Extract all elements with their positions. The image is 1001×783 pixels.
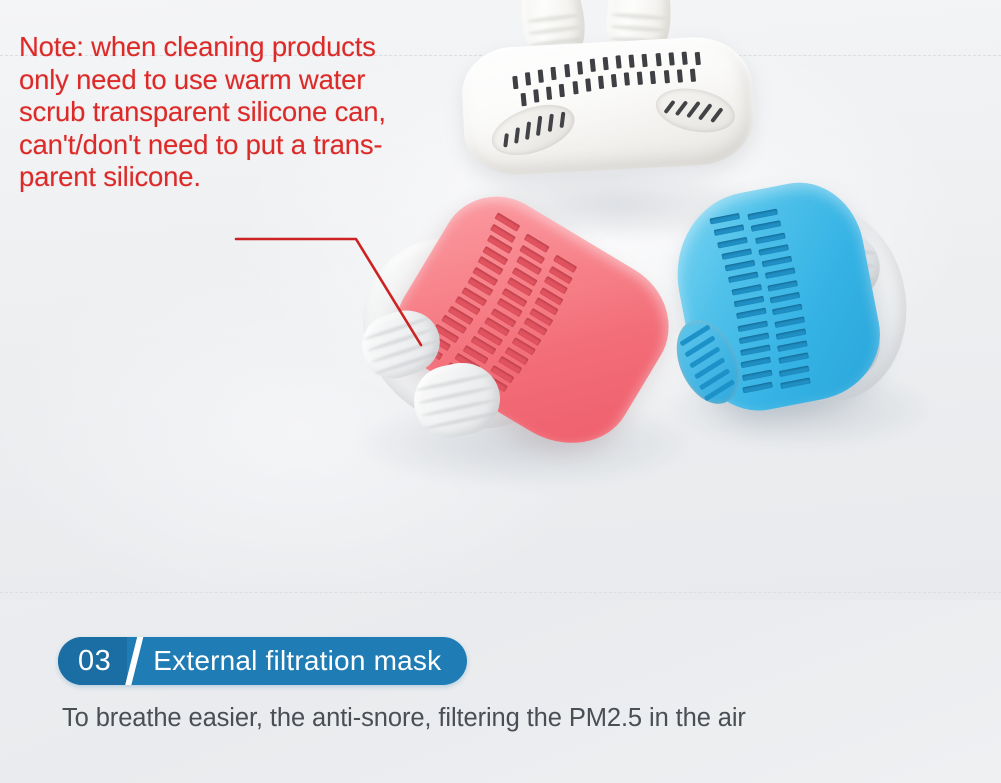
vent-slot	[533, 90, 539, 103]
vent-slat	[560, 112, 566, 128]
vent-slot	[762, 256, 793, 268]
vent-slot	[747, 209, 778, 221]
vent-slot	[546, 86, 552, 99]
vent-slot	[551, 66, 557, 79]
vent-slot	[741, 357, 772, 369]
anti-snore-device-blue	[660, 178, 920, 438]
cleaning-note-text: Note: when cleaning products only need t…	[19, 31, 449, 194]
vent-slot	[768, 280, 799, 292]
vent-slot	[780, 377, 811, 389]
vent-slot	[739, 332, 770, 344]
vent-slot	[677, 69, 683, 82]
vent-slot	[624, 72, 630, 85]
vent-slot	[718, 236, 749, 248]
vent-slot	[650, 70, 656, 83]
vent-slot	[776, 328, 807, 340]
vent-slot	[616, 55, 622, 68]
vent-slot	[725, 260, 756, 272]
vent-slot	[512, 76, 518, 89]
vent-slot	[779, 365, 810, 377]
vent-slot	[572, 81, 578, 94]
vent-slot	[738, 320, 769, 332]
vent-slot	[731, 284, 762, 296]
vent-slot	[728, 272, 759, 284]
vent-slot	[740, 345, 771, 357]
vent-slat	[663, 100, 675, 114]
vent-slot	[521, 93, 527, 106]
vent-slot	[577, 61, 583, 74]
vent-slat	[710, 107, 723, 123]
vent-slot	[772, 304, 803, 316]
vent-slot	[734, 296, 765, 308]
product-detail-page: Note: when cleaning products only need t…	[0, 0, 1001, 783]
section-subtitle: To breathe easier, the anti-snore, filte…	[62, 704, 746, 733]
vent-slot	[751, 220, 782, 232]
vent-slot	[611, 74, 617, 87]
section-banner: 03 External filtration mask	[58, 637, 467, 685]
section-title: External filtration mask	[147, 637, 467, 685]
vent-slot	[642, 53, 648, 66]
vent-slat	[514, 127, 520, 143]
vent-slot	[709, 213, 740, 225]
vent-slot	[663, 70, 669, 83]
vent-slot	[590, 59, 596, 72]
vent-slot	[681, 52, 687, 65]
vent-slot	[778, 353, 809, 365]
vent-slot	[598, 76, 604, 89]
vent-slot	[629, 54, 635, 67]
vent-slot	[770, 292, 801, 304]
vent-slot	[668, 52, 674, 65]
vent-slot	[736, 308, 767, 320]
vent-slat	[536, 116, 542, 136]
vent-slat	[698, 103, 713, 121]
vent-slot	[777, 341, 808, 353]
vent-slot	[655, 53, 661, 66]
vent-slot	[538, 69, 544, 82]
vent-slot	[603, 57, 609, 70]
anti-snore-device-red	[352, 222, 682, 472]
vent-slat	[503, 133, 509, 147]
vent-slat	[548, 114, 554, 132]
vent-slot	[758, 244, 789, 256]
vent-slot	[755, 232, 786, 244]
vent-slot	[690, 69, 696, 82]
vent-slot	[742, 369, 773, 381]
vent-slat	[525, 121, 531, 139]
vent-slot	[559, 83, 565, 96]
vent-slot	[714, 225, 745, 237]
vent-slot	[695, 52, 701, 65]
banner-slash-divider	[127, 637, 147, 685]
vent-slot	[721, 248, 752, 260]
vent-slot	[564, 64, 570, 77]
divider-bottom	[0, 592, 1001, 593]
section-number: 03	[58, 637, 127, 685]
device-body-white	[460, 34, 756, 177]
vent-slot	[637, 71, 643, 84]
vent-slot	[774, 316, 805, 328]
vent-slot	[765, 268, 796, 280]
vent-slot	[585, 78, 591, 91]
vent-slot	[742, 382, 773, 394]
vent-slot	[525, 73, 531, 86]
